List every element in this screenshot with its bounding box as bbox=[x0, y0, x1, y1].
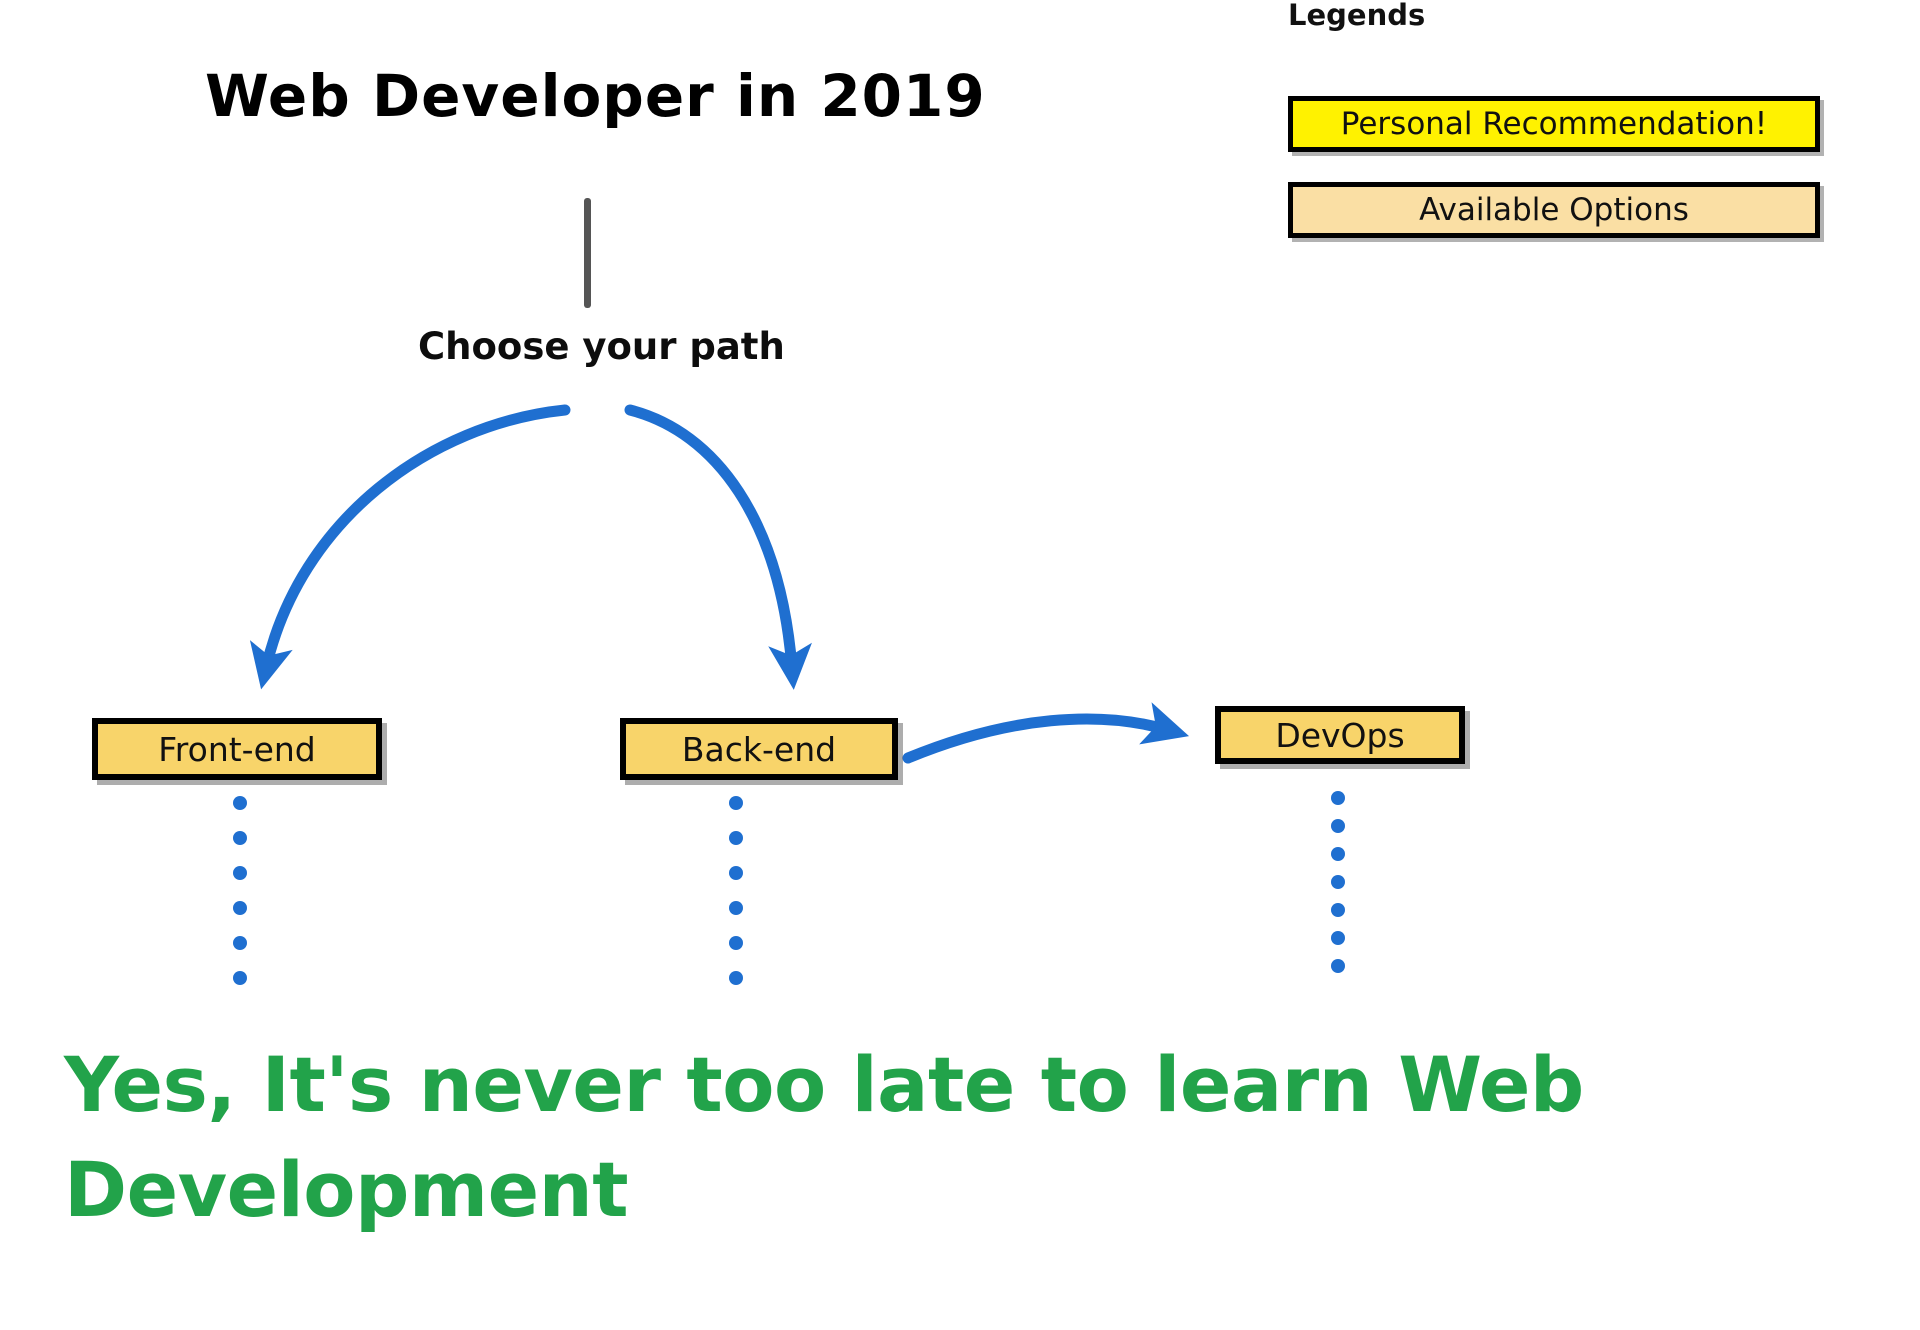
dotted-line-backend bbox=[729, 796, 743, 985]
choose-path-label: Choose your path bbox=[418, 325, 785, 368]
legend-item-available-options: Available Options bbox=[1288, 182, 1820, 238]
node-backend[interactable]: Back-end bbox=[620, 718, 898, 780]
arrow-prompt-to-frontend bbox=[266, 410, 565, 668]
root-stem-line bbox=[584, 198, 591, 308]
dotted-line-frontend bbox=[233, 796, 247, 985]
legend-item-label: Available Options bbox=[1419, 192, 1689, 228]
node-devops[interactable]: DevOps bbox=[1215, 706, 1465, 764]
node-label: Back-end bbox=[682, 730, 836, 769]
node-label: DevOps bbox=[1275, 716, 1404, 755]
tagline: Yes, It's never too late to learn Web De… bbox=[64, 1033, 1744, 1243]
legend-item-label: Personal Recommendation! bbox=[1341, 106, 1767, 142]
dotted-line-devops bbox=[1331, 791, 1345, 973]
arrow-prompt-to-backend bbox=[630, 410, 792, 668]
page-title: Web Developer in 2019 bbox=[205, 62, 986, 130]
diagram-canvas: Web Developer in 2019 Legends Personal R… bbox=[0, 0, 1920, 1330]
node-frontend[interactable]: Front-end bbox=[92, 718, 382, 780]
arrow-backend-to-devops bbox=[908, 719, 1168, 758]
legend-heading: Legends bbox=[1288, 0, 1425, 32]
node-label: Front-end bbox=[158, 730, 316, 769]
legend-item-personal-recommendation: Personal Recommendation! bbox=[1288, 96, 1820, 152]
